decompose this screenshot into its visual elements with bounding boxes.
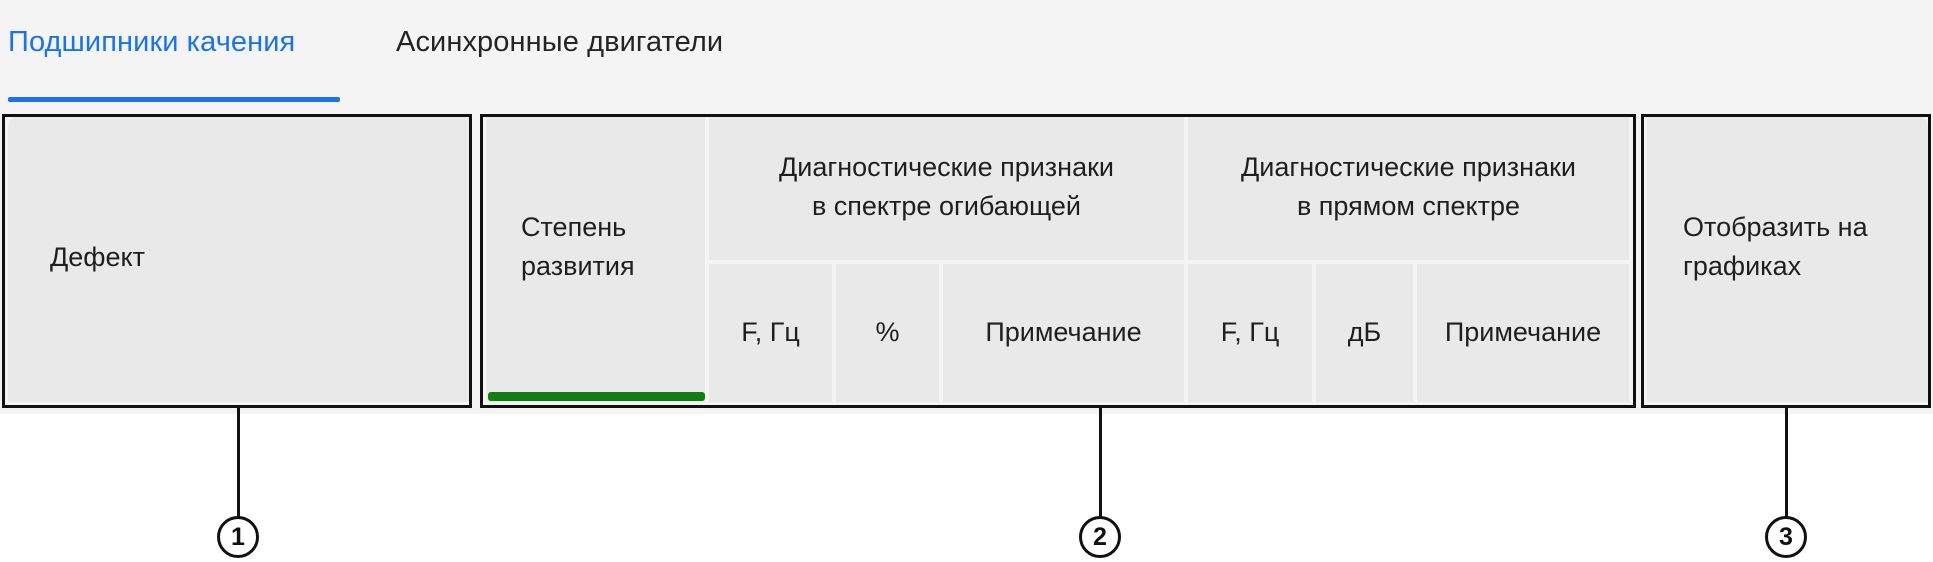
column-header-display-line1: Отобразить на	[1683, 208, 1928, 247]
column-header-degree-line2: развития	[521, 247, 705, 286]
callout-leader-1	[237, 408, 240, 518]
callout-badge-3: 3	[1765, 516, 1807, 558]
column-header-defect-label: Дефект	[50, 238, 145, 277]
degree-level-indicator-bar	[488, 392, 705, 401]
subcolumn-header-envelope-note[interactable]: Примечание	[941, 264, 1184, 402]
diagnostics-table-header: Дефект Степень развития Диагностические …	[0, 104, 1933, 414]
subcolumn-header-envelope-frequency-label: F, Гц	[741, 313, 800, 352]
subcolumn-header-direct-db-label: дБ	[1348, 313, 1381, 352]
column-header-degree-line1: Степень	[521, 208, 705, 247]
subcolumn-header-direct-db[interactable]: дБ	[1314, 264, 1413, 402]
callout-leader-2	[1099, 408, 1102, 518]
subcolumn-header-direct-note-label: Примечание	[1445, 313, 1601, 352]
subcolumn-header-envelope-percent-label: %	[875, 313, 899, 352]
callout-leader-3	[1785, 408, 1788, 518]
column-group-header-envelope-spectrum: Диагностические признаки в спектре огиба…	[707, 114, 1184, 262]
tab-bar: Подшипники качения Асинхронные двигатели	[0, 0, 1933, 104]
column-header-display-line2: графиках	[1683, 247, 1928, 286]
group-header-direct-line1: Диагностические признаки	[1188, 148, 1629, 187]
column-header-display-on-charts[interactable]: Отобразить на графиках	[1647, 114, 1928, 402]
column-header-degree-of-development[interactable]: Степень развития	[487, 114, 705, 402]
column-group-header-direct-spectrum: Диагностические признаки в прямом спектр…	[1186, 114, 1629, 262]
group-header-envelope-line1: Диагностические признаки	[709, 148, 1184, 187]
tab-rolling-bearings[interactable]: Подшипники качения	[8, 20, 295, 64]
subcolumn-header-envelope-note-label: Примечание	[985, 313, 1141, 352]
subcolumn-header-direct-frequency[interactable]: F, Гц	[1186, 264, 1312, 402]
subcolumn-header-direct-frequency-label: F, Гц	[1221, 313, 1280, 352]
active-tab-indicator	[8, 97, 340, 102]
subcolumn-header-envelope-frequency[interactable]: F, Гц	[707, 264, 832, 402]
group-header-direct-line2: в прямом спектре	[1188, 187, 1629, 226]
subcolumn-header-direct-note[interactable]: Примечание	[1415, 264, 1629, 402]
callout-badge-1: 1	[217, 516, 259, 558]
column-header-defect[interactable]: Дефект	[8, 114, 470, 402]
group-header-envelope-line2: в спектре огибающей	[709, 187, 1184, 226]
tab-asynchronous-motors[interactable]: Асинхронные двигатели	[396, 20, 723, 64]
subcolumn-header-envelope-percent[interactable]: %	[834, 264, 939, 402]
callout-badge-2: 2	[1079, 516, 1121, 558]
